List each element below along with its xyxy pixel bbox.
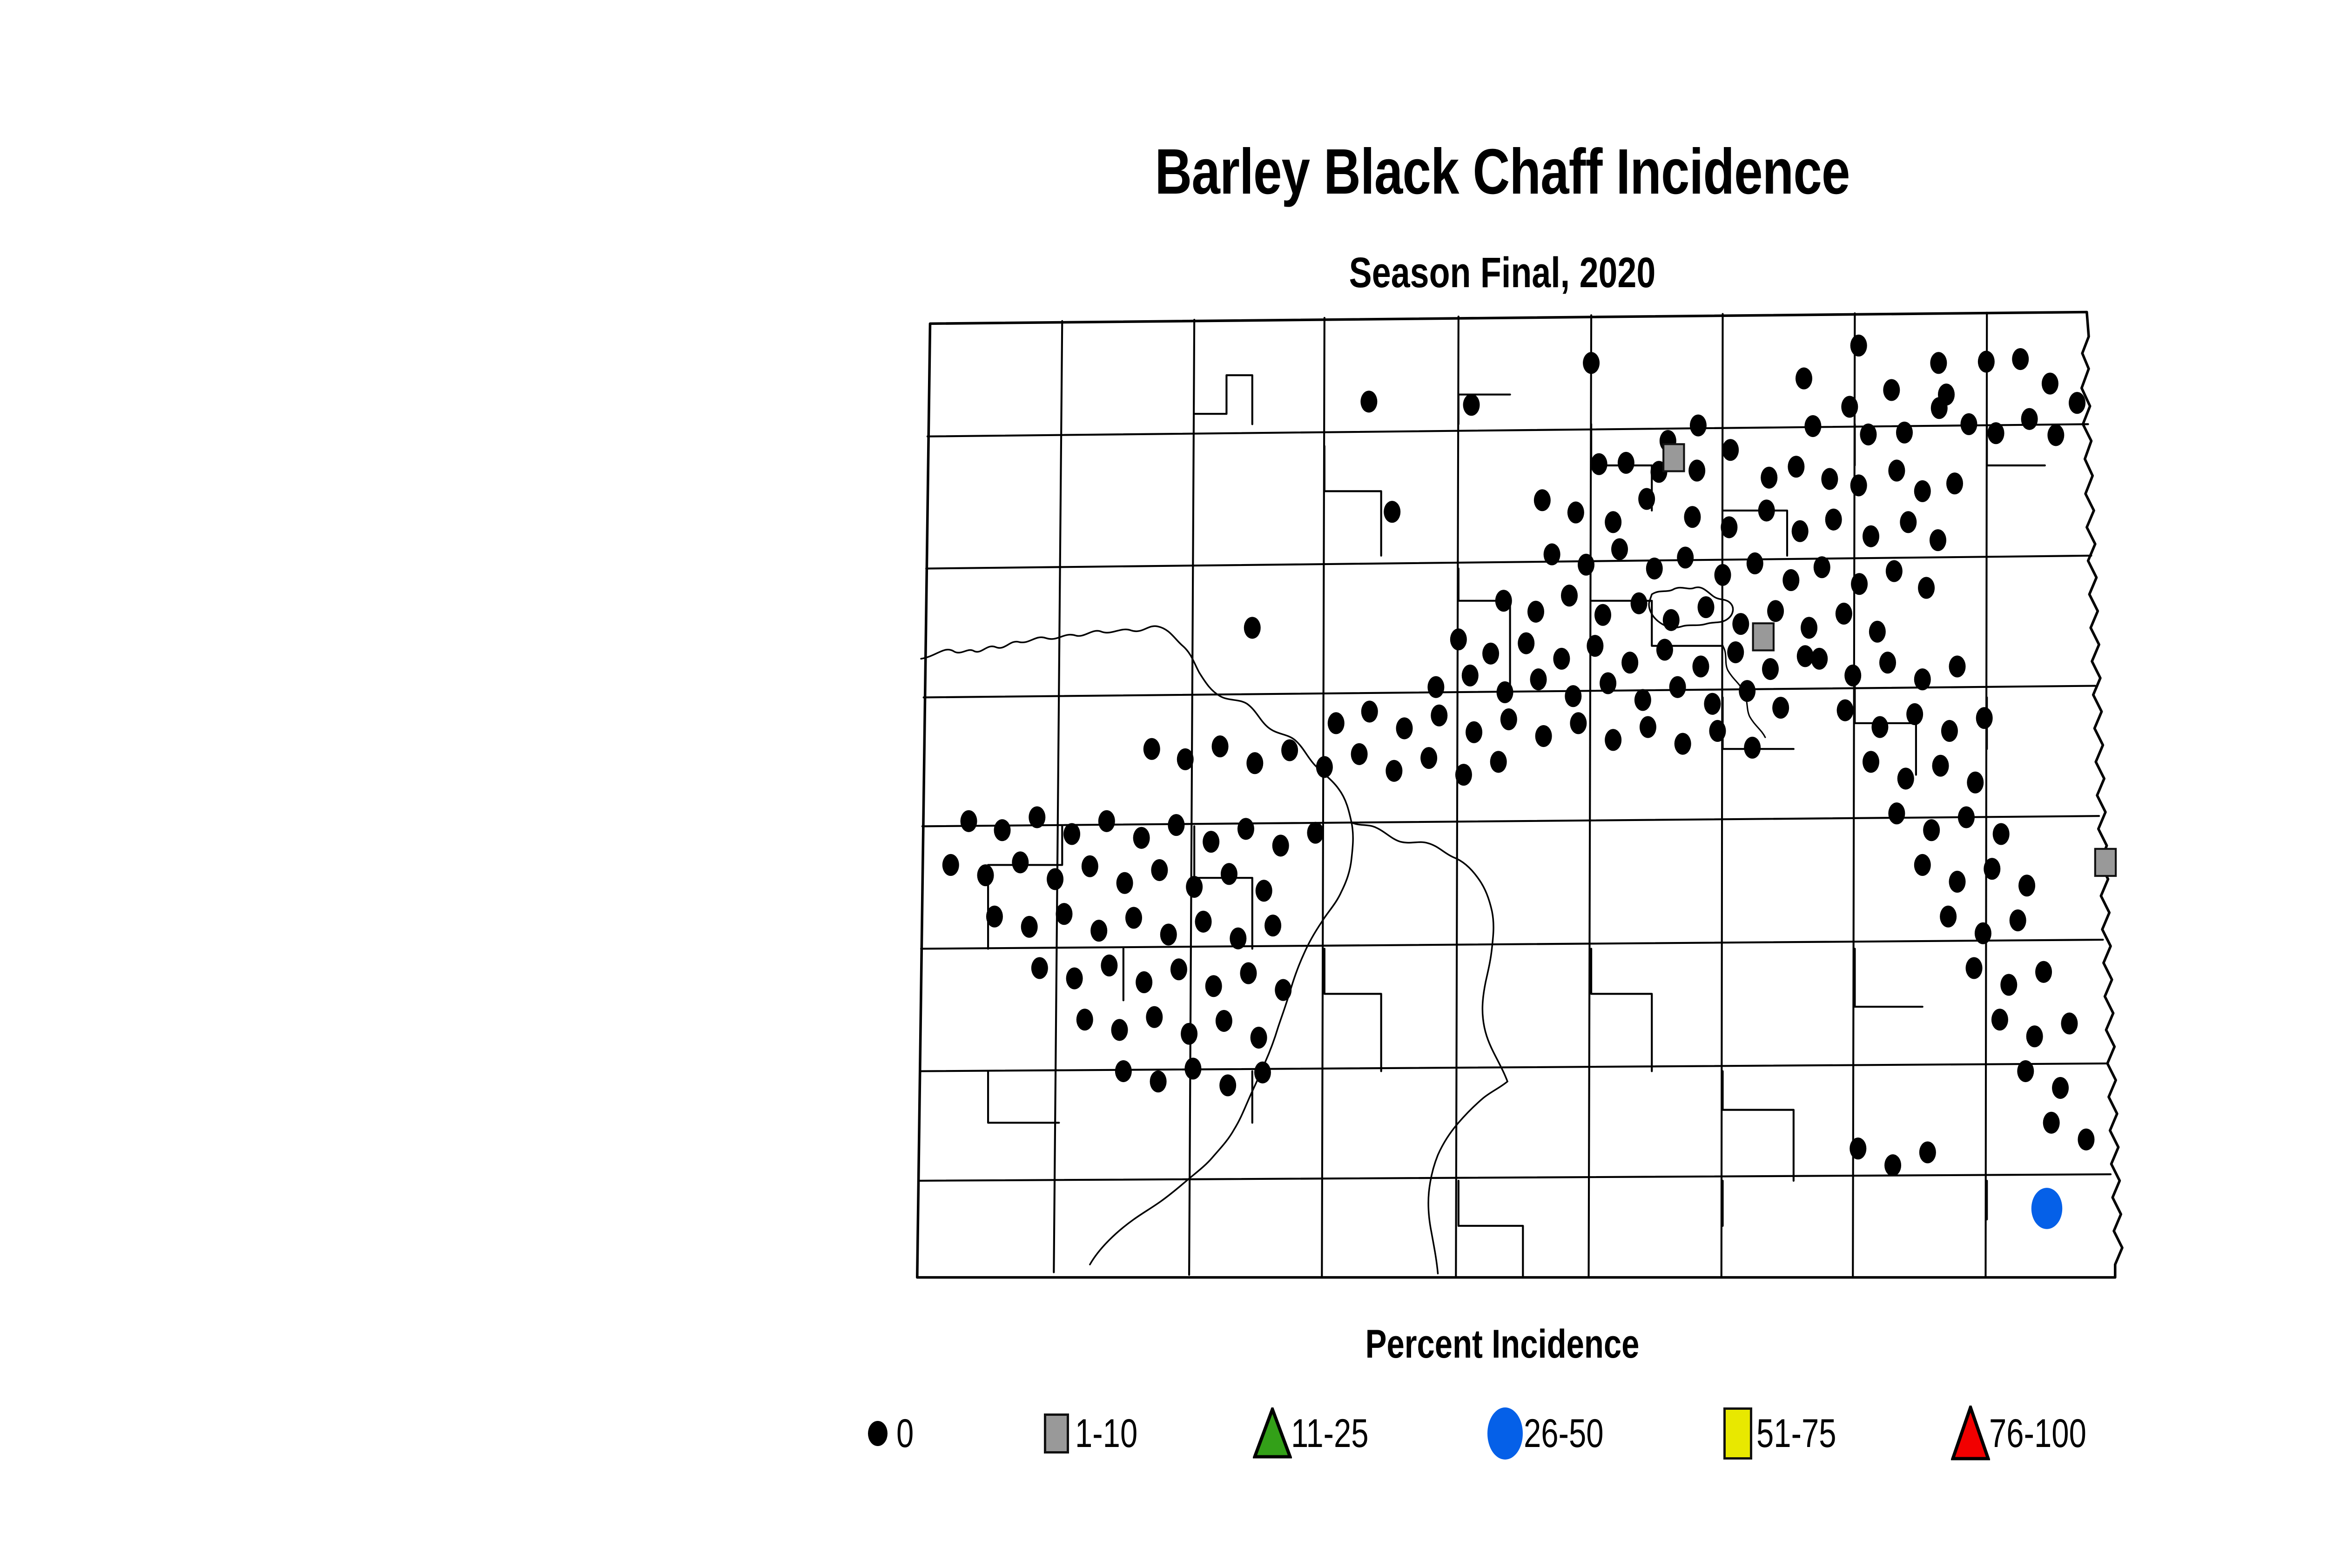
map-data-point [1490,751,1507,773]
map-data-point [1420,747,1437,769]
map-data-point [1535,725,1552,747]
map-data-point [1591,453,1607,475]
map-data-point [1761,467,1777,489]
map-data-point [1587,635,1603,657]
map-data-point [1221,863,1237,885]
map-data-point [1721,516,1737,538]
map-data-point [1888,460,1905,482]
map-data-point [1427,676,1444,698]
map-data-point [1844,665,1861,686]
map-data-point [1709,720,1726,742]
map-data-point [1869,621,1886,643]
map-data-point [2000,974,2017,996]
legend-label-2: 11-25 [1291,1411,1369,1457]
map-data-point [977,864,994,886]
map-data-point [2061,1013,2078,1035]
map-svg [717,298,2327,1303]
map-data-point [1931,397,1948,419]
legend-label-0: 0 [896,1411,914,1457]
data-points-zero [942,335,2095,1176]
map-data-point [1031,957,1048,979]
map-data-point [1801,617,1817,639]
map-data-point [1328,712,1345,734]
map-data-point [1082,855,1098,877]
map-data-point [1246,752,1263,774]
map-data-point [1181,1023,1197,1045]
map-data-point [1688,460,1705,482]
map-data-point [1151,859,1168,881]
yellow-square-icon [1716,1403,1759,1464]
map-data-point [1219,1074,1236,1096]
map-data-point [2026,1025,2043,1047]
black-dot-icon [856,1403,899,1464]
map-data-point [2035,961,2052,983]
map-data-point [1230,928,1246,949]
map-data-point [994,819,1011,841]
map-data-point [1871,716,1888,738]
map-data-point [1111,1019,1128,1041]
map-data-point [1988,422,2004,444]
map-data-point [1984,858,2000,880]
map-data-point [1455,764,1472,786]
map-data-point [1076,1009,1093,1030]
map-data-point [1431,705,1447,727]
map-data-point [1896,422,1913,444]
map-data-point [1960,413,1977,435]
map-data-point [1012,851,1029,873]
map-data-point [1638,488,1655,510]
map-data-point [1886,560,1903,582]
red-triangle-svg [1951,1406,1990,1461]
map-data-point [986,906,1003,928]
map-data-point [1631,592,1648,614]
map-data-point [1804,415,1821,437]
legend-item-3[interactable]: 26-50 [1484,1396,1626,1471]
map-data-point [1500,708,1517,730]
map-data-point [1958,806,1975,828]
map-data-point [1692,655,1709,677]
map-data-point [1561,585,1578,606]
map-data-point [1570,712,1587,734]
map-data-point [1946,472,1963,494]
red-triangle-icon [1949,1403,1992,1464]
map-data-point [2078,1129,2094,1151]
legend-item-0[interactable]: 0 [856,1396,919,1471]
map-data-point [942,854,959,876]
map-data-point [1949,871,1966,893]
map-data-point [1133,827,1150,849]
map-data-point [1351,743,1368,765]
map-data-point [1463,394,1480,416]
green-triangle-icon [1251,1403,1294,1464]
map-data-point [1825,509,1842,531]
map-data-point [1186,876,1203,898]
map-data-point [1722,439,1739,461]
map-data-point [1116,872,1133,894]
map-data-point [1850,474,1867,496]
map-data-point [1860,424,1876,445]
legend-title: Percent Incidence [301,1324,2327,1364]
map-data-point [1967,772,1984,794]
map-data-point [1836,603,1852,625]
map-data-point [1897,767,1914,789]
figure-root: Barley Black Chaff Incidence Season Fina… [0,0,2327,1568]
map-data-point [1811,648,1828,670]
map-data-point [1184,1057,1201,1079]
map-data-point [2047,424,2064,446]
map-data-point [1605,511,1621,533]
map-data-point [2042,373,2058,395]
map-data-point [1272,834,1289,856]
map-data-point [1732,613,1749,635]
map-data-point [1160,923,1177,945]
map-data-point [1796,368,1812,390]
map-data-point [1753,623,1774,650]
map-data-point [1254,1062,1271,1083]
map-data-point [1792,520,1809,542]
map-data-point [1941,720,1958,742]
page-title: Barley Black Chaff Incidence [301,140,2327,204]
map-data-point [1125,907,1142,929]
map-data-point [1863,525,1879,547]
map-data-point [1275,979,1291,1001]
map-data-point [1698,596,1715,618]
map-data-point [2010,909,2026,931]
map-data-point [1690,415,1707,437]
map-data-point [1567,502,1584,524]
map-data-point [1991,1009,2008,1030]
map-data-point [1932,755,1949,777]
north-dakota-county-map [717,298,2327,1303]
map-data-point [1906,703,1923,725]
map-data-point [1462,665,1479,686]
map-data-point [1821,468,1838,490]
map-data-point [1900,511,1917,533]
map-data-point [1090,920,1107,942]
legend: 0 1-10 11-25 26-50 51-75 [856,1396,2253,1471]
map-data-point [1583,352,1600,374]
map-data-point [1677,546,1694,568]
map-data-point [1307,822,1324,844]
map-data-point [1930,529,1946,551]
map-data-point [1772,697,1789,719]
map-data-point [1029,806,1045,828]
map-data-point [2052,1077,2069,1099]
map-data-point [1704,693,1721,715]
map-data-point [1762,658,1779,680]
map-data-point [1527,601,1544,623]
map-data-point [1978,351,1995,373]
map-data-point [1450,628,1467,650]
map-data-point [1578,554,1594,576]
map-data-point [1251,1027,1267,1049]
map-data-point [1640,716,1656,738]
map-data-point [1884,1154,1901,1176]
map-data-point [1098,810,1115,832]
map-data-point [1797,645,1814,667]
map-data-point [1675,733,1691,755]
map-data-point [1663,444,1684,471]
map-data-point [1264,915,1281,936]
map-data-point [1195,911,1212,933]
map-data-point [1495,590,1512,612]
map-data-point [1621,652,1638,673]
map-data-point [1605,729,1621,751]
map-data-point [2069,392,2085,414]
map-data-point [1316,756,1333,778]
map-data-point [1919,1141,1936,1163]
map-data-point [1837,700,1854,721]
map-data-point [1066,968,1083,989]
map-data-point [1744,737,1761,759]
map-data-point [1646,558,1663,579]
map-data-point [1530,668,1547,690]
map-data-point [1758,499,1775,521]
map-data-point [1534,489,1551,511]
map-data-point [1360,390,1377,412]
legend-item-1[interactable]: 1-10 [1035,1396,1155,1471]
map-data-point [1949,655,1966,677]
county-boundaries [917,312,2122,1277]
map-data-point [1553,648,1570,670]
map-data-point [1143,738,1160,760]
map-data-point [1814,556,1830,578]
map-data-point [1851,573,1868,595]
map-data-point [1863,751,1879,773]
map-data-point [1063,823,1080,845]
blue-circle-icon [1484,1403,1527,1464]
map-data-point [1256,880,1272,902]
legend-label-4: 51-75 [1756,1411,1836,1457]
map-data-point [1212,735,1229,757]
map-data-point [1244,617,1261,639]
map-data-point [1727,641,1744,663]
legend-label-5: 76-100 [1989,1411,2086,1457]
map-data-point [1940,906,1957,928]
map-data-point [1782,569,1799,591]
green-triangle-svg [1253,1407,1292,1460]
map-data-point [1975,922,1991,944]
map-data-point [1669,676,1686,698]
legend-item-2[interactable]: 11-25 [1251,1396,1391,1471]
map-data-point [2021,408,2038,430]
map-data-point [1047,868,1063,890]
map-data-point [1850,335,1867,357]
map-data-point [1170,958,1187,980]
map-data-point [1993,823,2010,845]
map-data-point [1767,600,1784,622]
map-data-point [1611,538,1628,560]
map-data-point [1684,506,1701,528]
legend-label-1: 1-10 [1075,1411,1137,1457]
map-data-point [1918,577,1935,599]
missouri-river-south [1352,822,1507,1082]
map-data-point [1396,717,1413,739]
map-data-point [1281,739,1298,761]
map-data-point [1923,819,1940,841]
map-data-point [1914,480,1931,502]
map-data-point [1715,564,1731,586]
map-data-point [1136,971,1152,993]
map-data-point [2017,1060,2034,1082]
map-data-point [1205,975,1222,997]
map-data-point [1634,689,1651,711]
map-data-point [1879,652,1896,673]
map-data-point [961,810,977,832]
map-data-point [1966,957,1983,979]
legend-label-3: 26-50 [1524,1411,1604,1457]
map-data-point [1115,1060,1132,1082]
map-data-point [1841,396,1858,417]
map-data-point [2018,875,2035,896]
map-data-point [1216,1010,1232,1032]
legend-item-4[interactable]: 51-75 [1716,1396,1859,1471]
map-data-point [1384,501,1400,523]
page-subtitle: Season Final, 2020 [301,251,2327,294]
state-outline [917,312,2122,1277]
map-data-point [1101,955,1117,976]
map-data-point [1177,748,1194,770]
map-data-point [1168,814,1184,836]
map-data-point [1888,802,1905,824]
map-data-point [1544,544,1560,565]
map-data-point [1930,352,1947,374]
map-data-point [1466,721,1482,743]
map-data-point [1240,962,1257,984]
map-data-point [1482,643,1499,665]
map-data-point [2043,1112,2060,1134]
map-data-point [1518,633,1534,654]
map-data-point [1203,831,1219,853]
map-data-point [1150,1070,1167,1092]
map-data-point [1663,609,1680,631]
map-data-point [1565,685,1581,707]
devils-lake [1649,587,1733,628]
map-data-point [1739,680,1755,702]
map-data-point [1497,681,1513,703]
map-data-point [2095,849,2116,876]
map-data-point [1914,668,1931,690]
map-data-point [1600,672,1616,694]
map-data-point [2012,348,2029,370]
map-data-point [1914,854,1931,876]
map-data-point [1385,760,1402,782]
map-data-point [2031,1188,2062,1229]
map-data-point [1976,707,1993,729]
map-data-point [1849,1137,1866,1159]
map-data-point [1656,639,1673,660]
map-data-point [1788,456,1804,478]
gray-square-icon [1035,1403,1078,1464]
map-data-point [1021,916,1038,938]
map-data-point [1594,604,1611,626]
map-data-point [1618,452,1634,474]
legend-item-5[interactable]: 76-100 [1949,1396,2114,1471]
map-data-point [1747,552,1763,574]
map-data-point [1883,379,1900,401]
map-data-point [1146,1006,1163,1028]
data-points-mid [2031,1188,2062,1229]
map-data-point [1056,903,1072,925]
map-data-point [1237,818,1254,840]
map-data-point [1361,700,1378,722]
